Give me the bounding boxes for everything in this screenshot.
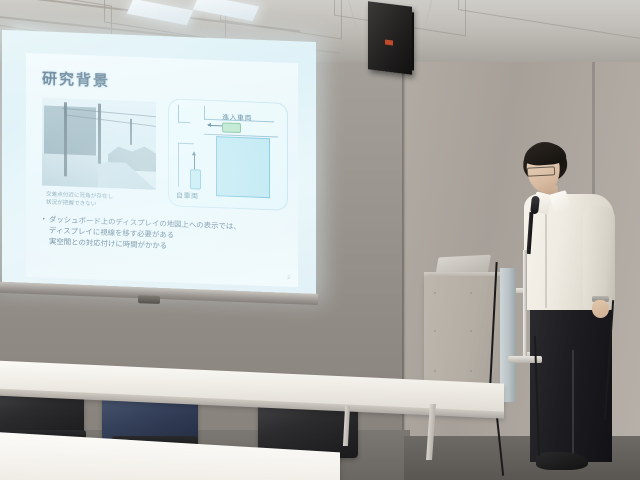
road-line — [204, 106, 205, 120]
podium-stud — [434, 292, 436, 294]
entering-vehicle-arrow-icon — [208, 125, 222, 127]
podium-stud — [434, 370, 436, 372]
presenter-arm — [583, 206, 615, 310]
slide-bullet-block: ・ ダッシュボード上のディスプレイの地図上への表示では、 ディスプレイに視線を移… — [40, 213, 290, 256]
microphone-base — [508, 356, 542, 363]
slide: 研究背景 交差点付近に死角が存在し 状況が把握できない — [26, 53, 298, 287]
podium-side-edge — [500, 268, 516, 402]
photo-caption: 交差点付近に死角が存在し 状況が把握できない — [46, 191, 174, 212]
jbl-speaker-icon — [368, 1, 412, 74]
bullet-marker: ・ — [40, 213, 47, 224]
intersection-diagram: 進入車両 自車両 — [168, 98, 288, 211]
screen-pull-handle[interactable] — [138, 295, 160, 304]
jbl-logo — [385, 40, 393, 46]
podium-stud — [470, 330, 472, 332]
diagram-label-entering-vehicle: 進入車両 — [222, 112, 252, 123]
photo-roadside-wall — [42, 153, 98, 187]
presenter-hand — [592, 300, 609, 318]
diagram-blind-area — [216, 136, 270, 198]
microphone-stand — [523, 250, 527, 362]
road-line — [178, 143, 179, 187]
own-vehicle-arrow-icon — [194, 155, 195, 169]
entering-vehicle-marker — [222, 122, 241, 133]
presenter-leg-seam — [572, 350, 574, 462]
slide-photo-street-scene — [42, 97, 156, 189]
own-vehicle-marker — [190, 169, 201, 189]
shirt-placket — [545, 208, 547, 308]
presenter-trousers — [530, 302, 612, 462]
projection-screen: 研究背景 交差点付近に死角が存在し 状況が把握できない — [0, 20, 320, 314]
photo-utility-pole — [98, 104, 101, 164]
podium-stud — [434, 330, 436, 332]
slide-page-number: 2 — [287, 275, 290, 281]
presentation-room-photo: 研究背景 交差点付近に死角が存在し 状況が把握できない — [0, 0, 640, 480]
podium-stud — [470, 292, 472, 294]
road-line — [178, 143, 194, 145]
presenter-shoe — [536, 452, 588, 470]
diagram-label-own-vehicle: 自車両 — [176, 191, 199, 202]
screen-surface: 研究背景 交差点付近に死角が存在し 状況が把握できない — [2, 30, 316, 294]
slide-title: 研究背景 — [42, 67, 110, 91]
road-line — [178, 122, 190, 123]
road-line — [178, 105, 179, 123]
glasses-icon — [527, 166, 555, 176]
podium-stud — [470, 370, 472, 372]
